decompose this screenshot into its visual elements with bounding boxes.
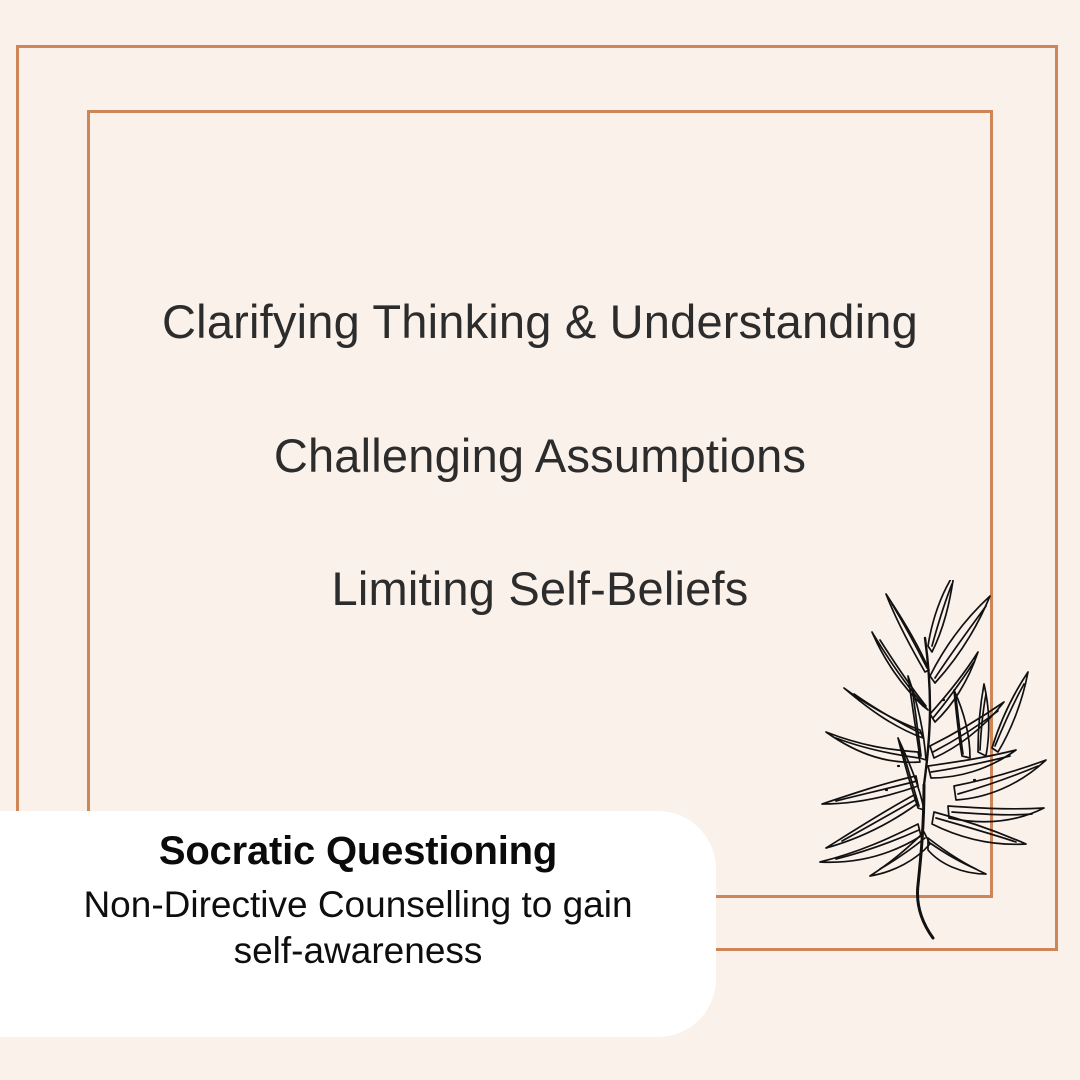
caption-card: Socratic Questioning Non-Directive Couns… [0, 811, 716, 1037]
caption-title: Socratic Questioning [40, 829, 676, 874]
caption-subtitle-line-2: self-awareness [40, 928, 676, 974]
statement-item-1: Clarifying Thinking & Understanding [0, 296, 1080, 348]
caption-subtitle-line-1: Non-Directive Counselling to gain [40, 882, 676, 928]
botanical-sprig-icon [778, 580, 1080, 950]
poster-canvas: Clarifying Thinking & Understanding Chal… [0, 0, 1080, 1080]
statement-item-2: Challenging Assumptions [0, 430, 1080, 482]
statement-list: Clarifying Thinking & Understanding Chal… [0, 296, 1080, 615]
